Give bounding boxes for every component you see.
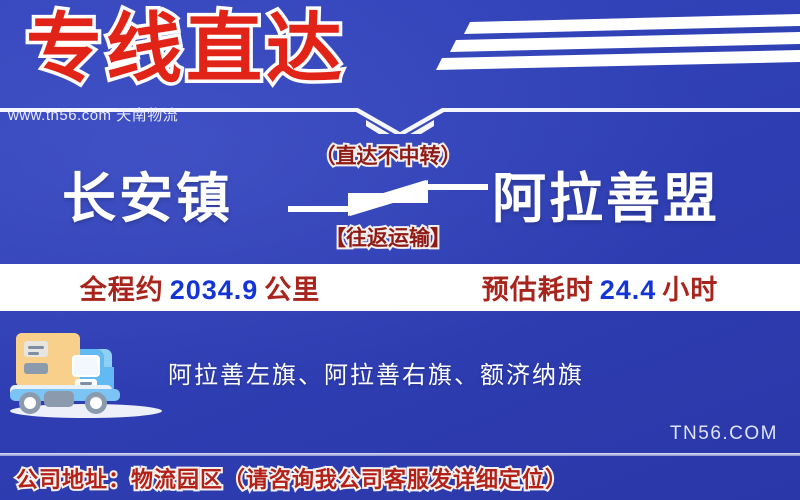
bidirectional-arrow-icon — [288, 180, 488, 220]
metrics-band: 全程约2034.9公里 预估耗时24.4小时 — [0, 264, 800, 311]
distance-label: 全程约 — [80, 275, 164, 305]
covered-regions-label: 阿拉善左旗、阿拉善右旗、额济纳旗 — [168, 355, 584, 390]
footer: 公司地址：物流园区（请咨询我公司客服发详细定位） — [0, 456, 800, 500]
route-row: 长安镇 （直达不中转） 【往返运输】 阿拉善盟 — [0, 136, 800, 262]
direct-transit-badge: （直达不中转） — [292, 140, 484, 170]
round-trip-badge: 【往返运输】 — [292, 222, 484, 252]
duration-metric: 预估耗时24.4小时 — [400, 268, 800, 307]
distance-value: 2034.9 — [170, 275, 259, 305]
distance-metric: 全程约2034.9公里 — [0, 268, 400, 307]
duration-value: 24.4 — [600, 275, 657, 305]
destination-city: 阿拉善盟 — [492, 154, 720, 233]
page-title: 专线直达 — [26, 4, 346, 96]
duration-unit: 小时 — [662, 275, 718, 305]
watermark-label: TN56.COM — [670, 423, 778, 445]
origin-city: 长安镇 — [62, 154, 233, 233]
delivery-truck-icon — [4, 323, 164, 419]
distance-unit: 公里 — [264, 275, 320, 305]
diagonal-stripes-decoration — [380, 14, 800, 84]
duration-label: 预估耗时 — [482, 275, 594, 305]
site-url-label: www.tn56.com 天南物流 — [8, 104, 178, 125]
header: 专线直达 www.tn56.com 天南物流 — [0, 0, 800, 100]
logistics-route-poster: 专线直达 www.tn56.com 天南物流 长安镇 （直达不中转） 【往返运输… — [0, 0, 800, 500]
body: 阿拉善左旗、阿拉善右旗、额济纳旗 TN56.COM — [0, 311, 800, 455]
company-address-label: 公司地址：物流园区（请咨询我公司客服发详细定位） — [0, 462, 568, 494]
